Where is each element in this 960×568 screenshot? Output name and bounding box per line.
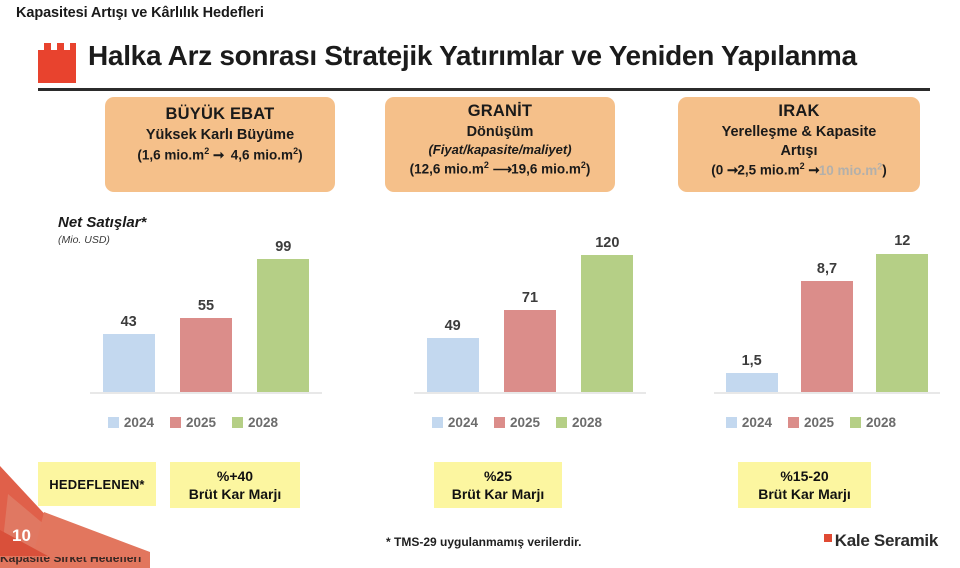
page-number: 10 [12,526,31,546]
bars: 43 55 99 [90,234,322,392]
legend-swatch-2028 [232,417,243,428]
chart-legend: 2024 2025 2028 [672,415,950,430]
bottom-cut-text: Kapasite Sİrket Hedefleri [0,557,141,565]
chart-title: Net Satışlar* [58,214,146,231]
legend-swatch-2028 [850,417,861,428]
bar-value-label: 71 [522,291,538,306]
bars: 1,5 8,7 12 [714,234,940,392]
bar-value-label: 8,7 [817,262,837,277]
bar-column-2025[interactable]: 71 [504,234,556,392]
legend-swatch-2025 [788,417,799,428]
brand-logo: Kale Seramik [824,531,938,551]
legend-label: 2028 [248,415,278,430]
legend-swatch-2025 [170,417,181,428]
bars: 49 71 120 [414,234,646,392]
ribbon-line-2: Brüt Kar Marjı [758,485,851,503]
legend-label: 2025 [510,415,540,430]
bar-column-2028[interactable]: 99 [257,234,309,392]
bar-value-label: 55 [198,299,214,314]
pill-subtitle-2: Artışı [678,142,920,161]
pill-irak: IRAK Yerelleşme & Kapasite Artışı (0 ➞2,… [678,97,920,192]
footnote: * TMS-29 uygulanmamış verilerdir. [386,535,581,549]
ribbon-line-1: HEDEFLENEN* [49,477,144,492]
legend-label: 2025 [804,415,834,430]
ribbon-margin-irak: %15-20 Brüt Kar Marjı [738,462,871,508]
pill-title: GRANİT [385,101,615,123]
bar-value-label: 99 [275,240,291,255]
pill-range: (12,6 mio.m2 ⟶19,6 mio.m2) [385,159,615,179]
ribbon-line-1: %15-20 [780,467,828,485]
pill-range: (0 ➞2,5 mio.m2 ➞10 mio.m2) [678,160,920,180]
ribbon-line-1: %25 [484,467,512,485]
brand-name: Kale Seramik [835,531,938,551]
legend-label: 2028 [572,415,602,430]
bar-column-2024[interactable]: 1,5 [726,234,778,392]
bar-2025[interactable] [801,281,853,392]
slide-root: Kapasitesi Artışı ve Kârlılık Hedefleri … [0,0,960,568]
x-axis-line [414,392,646,394]
legend-item-2028[interactable]: 2028 [850,415,896,430]
title-row: Halka Arz sonrası Stratejik Yatırımlar v… [38,41,928,86]
bar-value-label: 120 [595,236,619,251]
legend-label: 2024 [448,415,478,430]
ribbon-margin-granit: %25 Brüt Kar Marjı [434,462,562,508]
pill-subtitle: Yüksek Karlı Büyüme [105,126,335,145]
pill-granit: GRANİT Dönüşüm (Fiyat/kapasite/maliyet) … [385,97,615,192]
bar-2028[interactable] [876,254,928,393]
bar-value-label: 1,5 [742,354,762,369]
castle-battlement-icon [38,43,76,83]
bottom-cut-strip: Kapasite Sİrket Hedefleri [0,557,300,568]
bar-column-2025[interactable]: 8,7 [801,234,853,392]
legend-label: 2024 [742,415,772,430]
legend-label: 2028 [866,415,896,430]
pill-title: IRAK [678,101,920,123]
legend-swatch-2028 [556,417,567,428]
ribbon-line-2: Brüt Kar Marjı [452,485,545,503]
ribbon-hedeflenen: HEDEFLENEN* [38,462,156,506]
bar-2025[interactable] [504,310,556,392]
bar-value-label: 49 [445,319,461,334]
legend-item-2028[interactable]: 2028 [232,415,278,430]
legend-item-2024[interactable]: 2024 [432,415,478,430]
page-title: Halka Arz sonrası Stratejik Yatırımlar v… [88,40,857,72]
pill-buyuk-ebat: BÜYÜK EBAT Yüksek Karlı Büyüme (1,6 mio.… [105,97,335,192]
plot-area: 49 71 120 [414,234,646,394]
bar-column-2024[interactable]: 43 [103,234,155,392]
page-kicker: Kapasitesi Artışı ve Kârlılık Hedefleri [16,5,264,21]
legend-swatch-2025 [494,417,505,428]
bar-column-2028[interactable]: 12 [876,234,928,392]
legend-label: 2025 [186,415,216,430]
chart-net-satislar-buyuk-ebat: Net Satışlar* (Mio. USD) 43 55 99 [48,212,338,442]
legend-item-2028[interactable]: 2028 [556,415,602,430]
chart-legend: 2024 2025 2028 [372,415,662,430]
legend-label: 2024 [124,415,154,430]
legend-item-2025[interactable]: 2025 [494,415,540,430]
pill-range: (1,6 mio.m2 ➞ 4,6 mio.m2) [105,145,335,165]
chart-net-satislar-granit: 49 71 120 2024 2025 [372,212,662,442]
pill-subtitle: Yerelleşme & Kapasite [678,123,920,142]
bar-value-label: 12 [894,234,910,249]
chart-net-satislar-irak: 1,5 8,7 12 2024 2025 [672,212,950,442]
bar-2024[interactable] [427,338,479,392]
legend-item-2024[interactable]: 2024 [726,415,772,430]
bar-2025[interactable] [180,318,232,392]
bar-column-2025[interactable]: 55 [180,234,232,392]
plot-area: 1,5 8,7 12 [714,234,940,394]
pill-subtitle: Dönüşüm [385,123,615,142]
bar-column-2028[interactable]: 120 [581,234,633,392]
legend-item-2025[interactable]: 2025 [788,415,834,430]
legend-item-2024[interactable]: 2024 [108,415,154,430]
pill-italic-note: (Fiyat/kapasite/maliyet) [385,142,615,159]
legend-swatch-2024 [108,417,119,428]
legend-item-2025[interactable]: 2025 [170,415,216,430]
ribbon-line-1: %+40 [217,467,253,485]
x-axis-line [90,392,322,394]
plot-area: 43 55 99 [90,234,322,394]
bar-2028[interactable] [257,259,309,392]
pill-title: BÜYÜK EBAT [105,104,335,126]
bar-2024[interactable] [726,373,778,392]
bar-2028[interactable] [581,255,633,392]
bar-value-label: 43 [121,315,137,330]
ribbon-line-2: Brüt Kar Marjı [189,485,282,503]
title-underline [38,88,930,91]
chart-legend: 2024 2025 2028 [48,415,338,430]
legend-swatch-2024 [726,417,737,428]
x-axis-line [714,392,940,394]
bar-2024[interactable] [103,334,155,392]
bar-column-2024[interactable]: 49 [427,234,479,392]
brand-square-icon [824,534,832,542]
legend-swatch-2024 [432,417,443,428]
ribbon-margin-buyuk-ebat: %+40 Brüt Kar Marjı [170,462,300,508]
